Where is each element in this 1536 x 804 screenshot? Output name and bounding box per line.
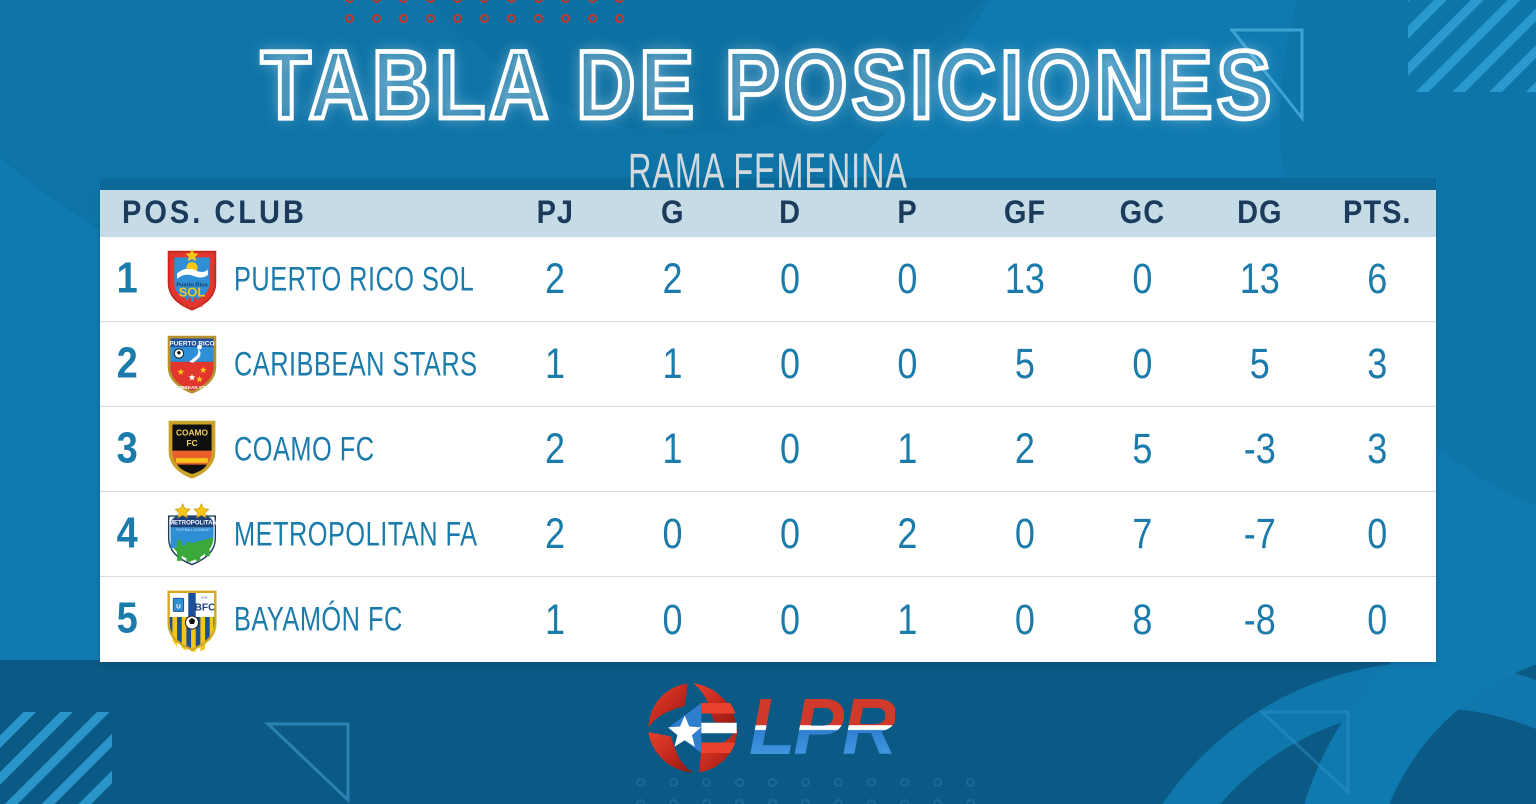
club-name: COAMO FC [234,429,375,469]
stat-dg: 5 [1201,339,1318,389]
stat-pts: 0 [1319,595,1436,645]
position-number: 1 [100,254,154,303]
column-header-pts: PTS. [1319,195,1436,232]
stat-pj: 1 [496,595,613,645]
stat-pj: 1 [496,339,613,389]
table-row[interactable]: 5UBFCLIGABAYAMÓN FC100108-80 [100,577,1436,662]
stat-pj: 2 [496,424,613,474]
position-number: 2 [100,339,154,388]
club-cell: PUERTO RICOCARIBBEAN STARSCARIBBEAN STAR… [154,333,496,395]
stat-d: 0 [731,254,848,304]
stat-d: 0 [731,339,848,389]
table-row[interactable]: 4METROPOLITANFOOTBALL ACADEMYMETROPOLITA… [100,492,1436,577]
column-header-g: G [614,195,731,232]
metropolitan-fa-crest: METROPOLITANFOOTBALL ACADEMY [164,503,220,565]
table-row[interactable]: 2PUERTO RICOCARIBBEAN STARSCARIBBEAN STA… [100,322,1436,407]
stat-d: 0 [731,509,848,559]
stat-gf: 0 [966,595,1083,645]
club-name: BAYAMÓN FC [234,600,403,640]
svg-text:SOL: SOL [179,285,206,300]
dot-pattern-bottom [636,778,975,804]
svg-text:BFC: BFC [195,602,217,613]
column-header-d: D [731,195,848,232]
table-row[interactable]: 1Puerto RicoSOLPUERTO RICO SOL2200130136 [100,237,1436,322]
stat-pj: 2 [496,254,613,304]
stat-p: 0 [849,339,966,389]
table-row[interactable]: 3COAMOFCCOAMO FC210125-33 [100,407,1436,492]
stat-d: 0 [731,595,848,645]
position-number: 5 [100,595,154,644]
stat-pj: 2 [496,509,613,559]
stat-gf: 2 [966,424,1083,474]
stat-p: 1 [849,424,966,474]
stat-p: 1 [849,595,966,645]
position-number: 4 [100,509,154,558]
stat-pts: 6 [1319,254,1436,304]
stat-gc: 5 [1084,424,1201,474]
svg-text:CARIBBEAN STARS: CARIBBEAN STARS [170,385,215,390]
club-name: PUERTO RICO SOL [234,259,474,299]
stat-pts: 3 [1319,424,1436,474]
stat-gf: 0 [966,509,1083,559]
svg-text:COAMO: COAMO [176,428,209,438]
stat-p: 2 [849,509,966,559]
stat-g: 2 [614,254,731,304]
caribbean-stars-crest: PUERTO RICOCARIBBEAN STARS [164,333,220,395]
stat-dg: -7 [1201,509,1318,559]
table-header-row: POS. CLUB PJ G D P GF GC DG PTS. [100,190,1436,237]
column-header-p: P [849,195,966,232]
stat-p: 0 [849,254,966,304]
column-header-gc: GC [1084,195,1201,232]
stat-dg: 13 [1201,254,1318,304]
lpr-wordmark: LPR [749,688,895,768]
column-header-dg: DG [1201,195,1318,232]
position-number: 3 [100,424,154,473]
stat-gc: 0 [1084,339,1201,389]
stat-gf: 13 [966,254,1083,304]
coamo-fc-crest: COAMOFC [164,418,220,480]
column-header-pj: PJ [497,195,614,232]
club-cell: METROPOLITANFOOTBALL ACADEMYMETROPOLITAN… [154,503,496,565]
stat-gf: 5 [966,339,1083,389]
svg-text:FOOTBALL ACADEMY: FOOTBALL ACADEMY [176,528,211,532]
stat-dg: -8 [1201,595,1318,645]
club-cell: COAMOFCCOAMO FC [154,418,496,480]
stat-g: 0 [614,509,731,559]
standings-table: POS. CLUB PJ G D P GF GC DG PTS. 1Puerto… [100,190,1436,662]
puerto-rico-sol-crest: Puerto RicoSOL [164,248,220,310]
club-name: METROPOLITAN FA [234,514,477,554]
stat-gc: 0 [1084,254,1201,304]
club-name: CARIBBEAN STARS [234,344,478,384]
lpr-swirl-flag-icon [641,676,745,780]
stat-g: 1 [614,424,731,474]
svg-text:METROPOLITAN: METROPOLITAN [169,520,217,526]
page-title: TABLA DE POSICIONES [0,38,1536,135]
club-cell: UBFCLIGABAYAMÓN FC [154,589,496,651]
stat-g: 1 [614,339,731,389]
stat-g: 0 [614,595,731,645]
bayamon-fc-crest: UBFCLIGA [164,589,220,651]
column-header-gf: GF [966,195,1083,232]
column-header-pos-club: POS. CLUB [100,195,497,232]
stat-pts: 0 [1319,509,1436,559]
stat-gc: 7 [1084,509,1201,559]
stat-d: 0 [731,424,848,474]
svg-text:LIGA: LIGA [201,595,208,599]
svg-text:PUERTO RICO: PUERTO RICO [170,341,215,348]
club-cell: Puerto RicoSOLPUERTO RICO SOL [154,248,496,310]
table-body: 1Puerto RicoSOLPUERTO RICO SOL2200130136… [100,237,1436,662]
stat-dg: -3 [1201,424,1318,474]
page-header: TABLA DE POSICIONES RAMA FEMENINA [0,0,1536,183]
stat-gc: 8 [1084,595,1201,645]
svg-text:FC: FC [187,438,198,448]
lpr-logo: LPR [641,676,895,780]
stat-pts: 3 [1319,339,1436,389]
svg-text:U: U [176,603,181,610]
